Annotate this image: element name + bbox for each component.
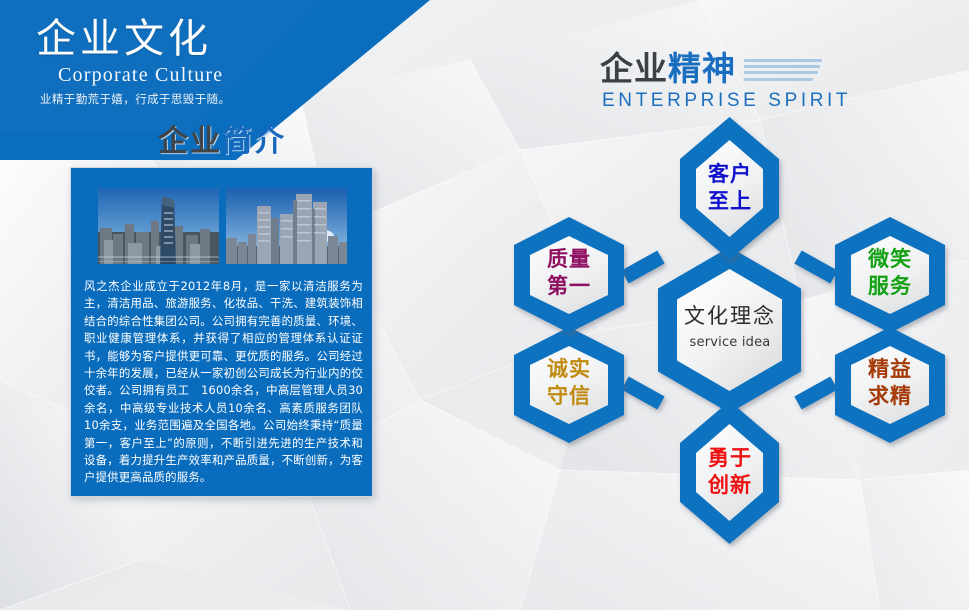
hex-integrity [514, 327, 624, 443]
banner-motto: 业精于勤荒于嬉，行成于思毁于随。 [40, 91, 326, 107]
hex-smile-service [835, 217, 945, 333]
hex-center [658, 247, 801, 413]
city-skyline-photo-1 [98, 188, 219, 264]
page-title: 企业简介 [158, 116, 286, 160]
banner-title-block: 企业文化 Corporate Culture 业精于勤荒于嬉，行成于思毁于随。 [36, 16, 326, 107]
slide-canvas: 企业文化 Corporate Culture 业精于勤荒于嬉，行成于思毁于随。 … [0, 0, 969, 610]
hex-quality-first [514, 217, 624, 333]
hex-innovation [680, 401, 779, 544]
decorative-placeholder-lines [744, 59, 822, 84]
spirit-title-block: 企业精神 ENTERPRISE SPIRIT [600, 50, 920, 112]
culture-hexagon-diagram: 文化理念 service idea 客户 至上 微笑 服务 精益 求精 勇于 创… [490, 105, 969, 610]
spirit-title: 企业精神 [600, 50, 736, 88]
city-skyline-photo-2 [226, 188, 347, 264]
banner-title-en: Corporate Culture [58, 63, 326, 87]
spirit-title-blue: 精神 [668, 49, 736, 88]
banner-title-zh: 企业文化 [36, 16, 326, 62]
hex-excellence [835, 327, 945, 443]
company-profile-card: 风之杰企业成立于2012年8月，是一家以清洁服务为主，清洁用品、旅游服务、化妆品… [70, 167, 373, 497]
company-profile-text: 风之杰企业成立于2012年8月，是一家以清洁服务为主，清洁用品、旅游服务、化妆品… [84, 278, 363, 487]
page-title-dark: 企业 [158, 124, 222, 159]
hex-customer-first [680, 117, 779, 260]
company-photo-row [98, 188, 348, 264]
spirit-title-dark: 企业 [600, 49, 668, 88]
page-title-blue: 简介 [222, 124, 286, 159]
